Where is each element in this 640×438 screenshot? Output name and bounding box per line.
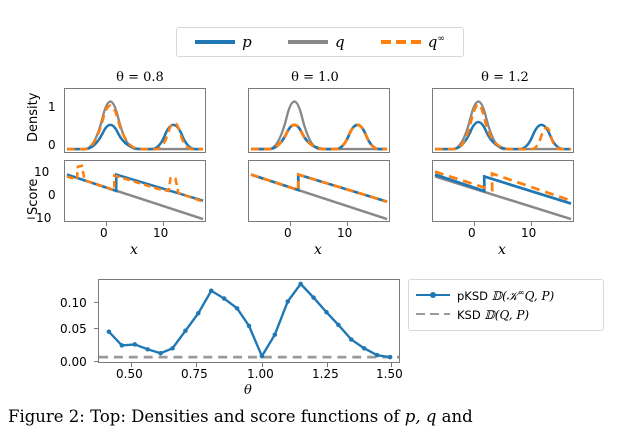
column-title-theta-0.8: θ = 0.8 [75,70,205,85]
pksd-xlabel: θ [244,383,252,398]
caption-tail: and [442,407,473,426]
pksd-legend: pKSD 𝔻(𝒦∞Q, P) KSD 𝔻(Q, P) [408,279,604,331]
pksd-xtick-0.75: 0.75 [181,367,208,381]
figure-2: p q q∞ θ = 0.8 θ = 1.0 θ = 1.2 Density S… [0,0,640,438]
density-ytick-0: 0 [48,138,56,152]
legend-label-q-infinity: q∞ [428,35,445,50]
column-title-theta-1.0: θ = 1.0 [250,70,380,85]
legend-label-pksd: pKSD 𝔻(𝒦∞Q, P) [457,288,554,304]
density-panel-theta-1.2 [432,88,574,153]
legend-label-ksd: KSD 𝔻(Q, P) [457,308,529,322]
legend-entry-pksd: pKSD 𝔻(𝒦∞Q, P) [416,286,596,305]
score-panel-theta-0.8 [64,160,206,222]
score-plot-0 [65,161,205,221]
series-p [435,122,571,149]
ksd-dashed-line-icon [416,310,450,320]
density-ytick-1: 1 [48,100,56,114]
xtick-label-0-col2: 0 [284,226,292,240]
series-q-infinity [67,105,203,149]
series-q [251,102,387,149]
infinity-superscript: ∞ [437,34,445,44]
density-plot-0 [65,89,205,152]
legend-swatch-q-icon [288,40,328,44]
pksd-ytick-0.05: 0.05 [60,322,87,336]
xtick-label-0-col1: 0 [100,226,108,240]
legend-label-p: p [242,35,252,50]
density-plot-2 [433,89,573,152]
legend-swatch-q-infinity-icon [381,40,421,44]
series-pksd [107,282,393,360]
pksd-line-marker-icon [416,291,450,301]
ytick-mark [94,361,98,362]
pksd-plot [99,280,399,362]
score-plot-1 [249,161,389,221]
legend-label-q: q [335,35,345,50]
pksd-ytick-0.10: 0.10 [60,296,87,310]
figure-caption: Figure 2: Top: Densities and score funct… [8,408,632,427]
series-q-infinity [251,125,387,149]
pksd-xtick-1.00: 1.00 [247,367,274,381]
caption-math: p, q [405,407,437,426]
legend-entry-q: q [288,35,345,50]
score-panel-theta-1.0 [248,160,390,222]
legend-swatch-p-icon [195,40,235,44]
xtick-label-10-col3: 10 [521,226,536,240]
pksd-markers [107,282,393,360]
legend-entry-q-infinity: q∞ [381,35,445,50]
pksd-ytick-0.00: 0.00 [60,355,87,369]
xlabel-col3: x [498,242,506,258]
score-plot-2 [433,161,573,221]
ytick-mark [94,328,98,329]
density-plot-1 [249,89,389,152]
pksd-xtick-0.50: 0.50 [116,367,143,381]
score-axis-label: Score [26,179,41,215]
pksd-chart-panel [98,279,400,363]
score-panel-theta-1.2 [432,160,574,222]
ytick-mark [94,302,98,303]
density-axis-label: Density [26,93,41,142]
score-ytick-minus10: −10 [26,211,51,225]
caption-main: Figure 2: Top: Densities and score funct… [8,407,400,426]
legend-entry-p: p [195,35,252,50]
xlabel-col1: x [130,242,138,258]
density-panel-theta-0.8 [64,88,206,153]
series-q-infinity [435,105,571,150]
xtick-label-0-col3: 0 [468,226,476,240]
score-ytick-10: 10 [34,165,49,179]
xtick-label-10-col2: 10 [337,226,352,240]
pksd-xtick-1.25: 1.25 [312,367,339,381]
xtick-label-10-col1: 10 [153,226,168,240]
density-panel-theta-1.0 [248,88,390,153]
top-legend: p q q∞ [176,27,464,57]
column-title-theta-1.2: θ = 1.2 [440,70,570,85]
score-ytick-0: 0 [48,188,56,202]
series-q [435,102,571,149]
xlabel-col2: x [314,242,322,258]
legend-entry-ksd: KSD 𝔻(Q, P) [416,305,596,324]
pksd-xtick-1.50: 1.50 [376,367,403,381]
